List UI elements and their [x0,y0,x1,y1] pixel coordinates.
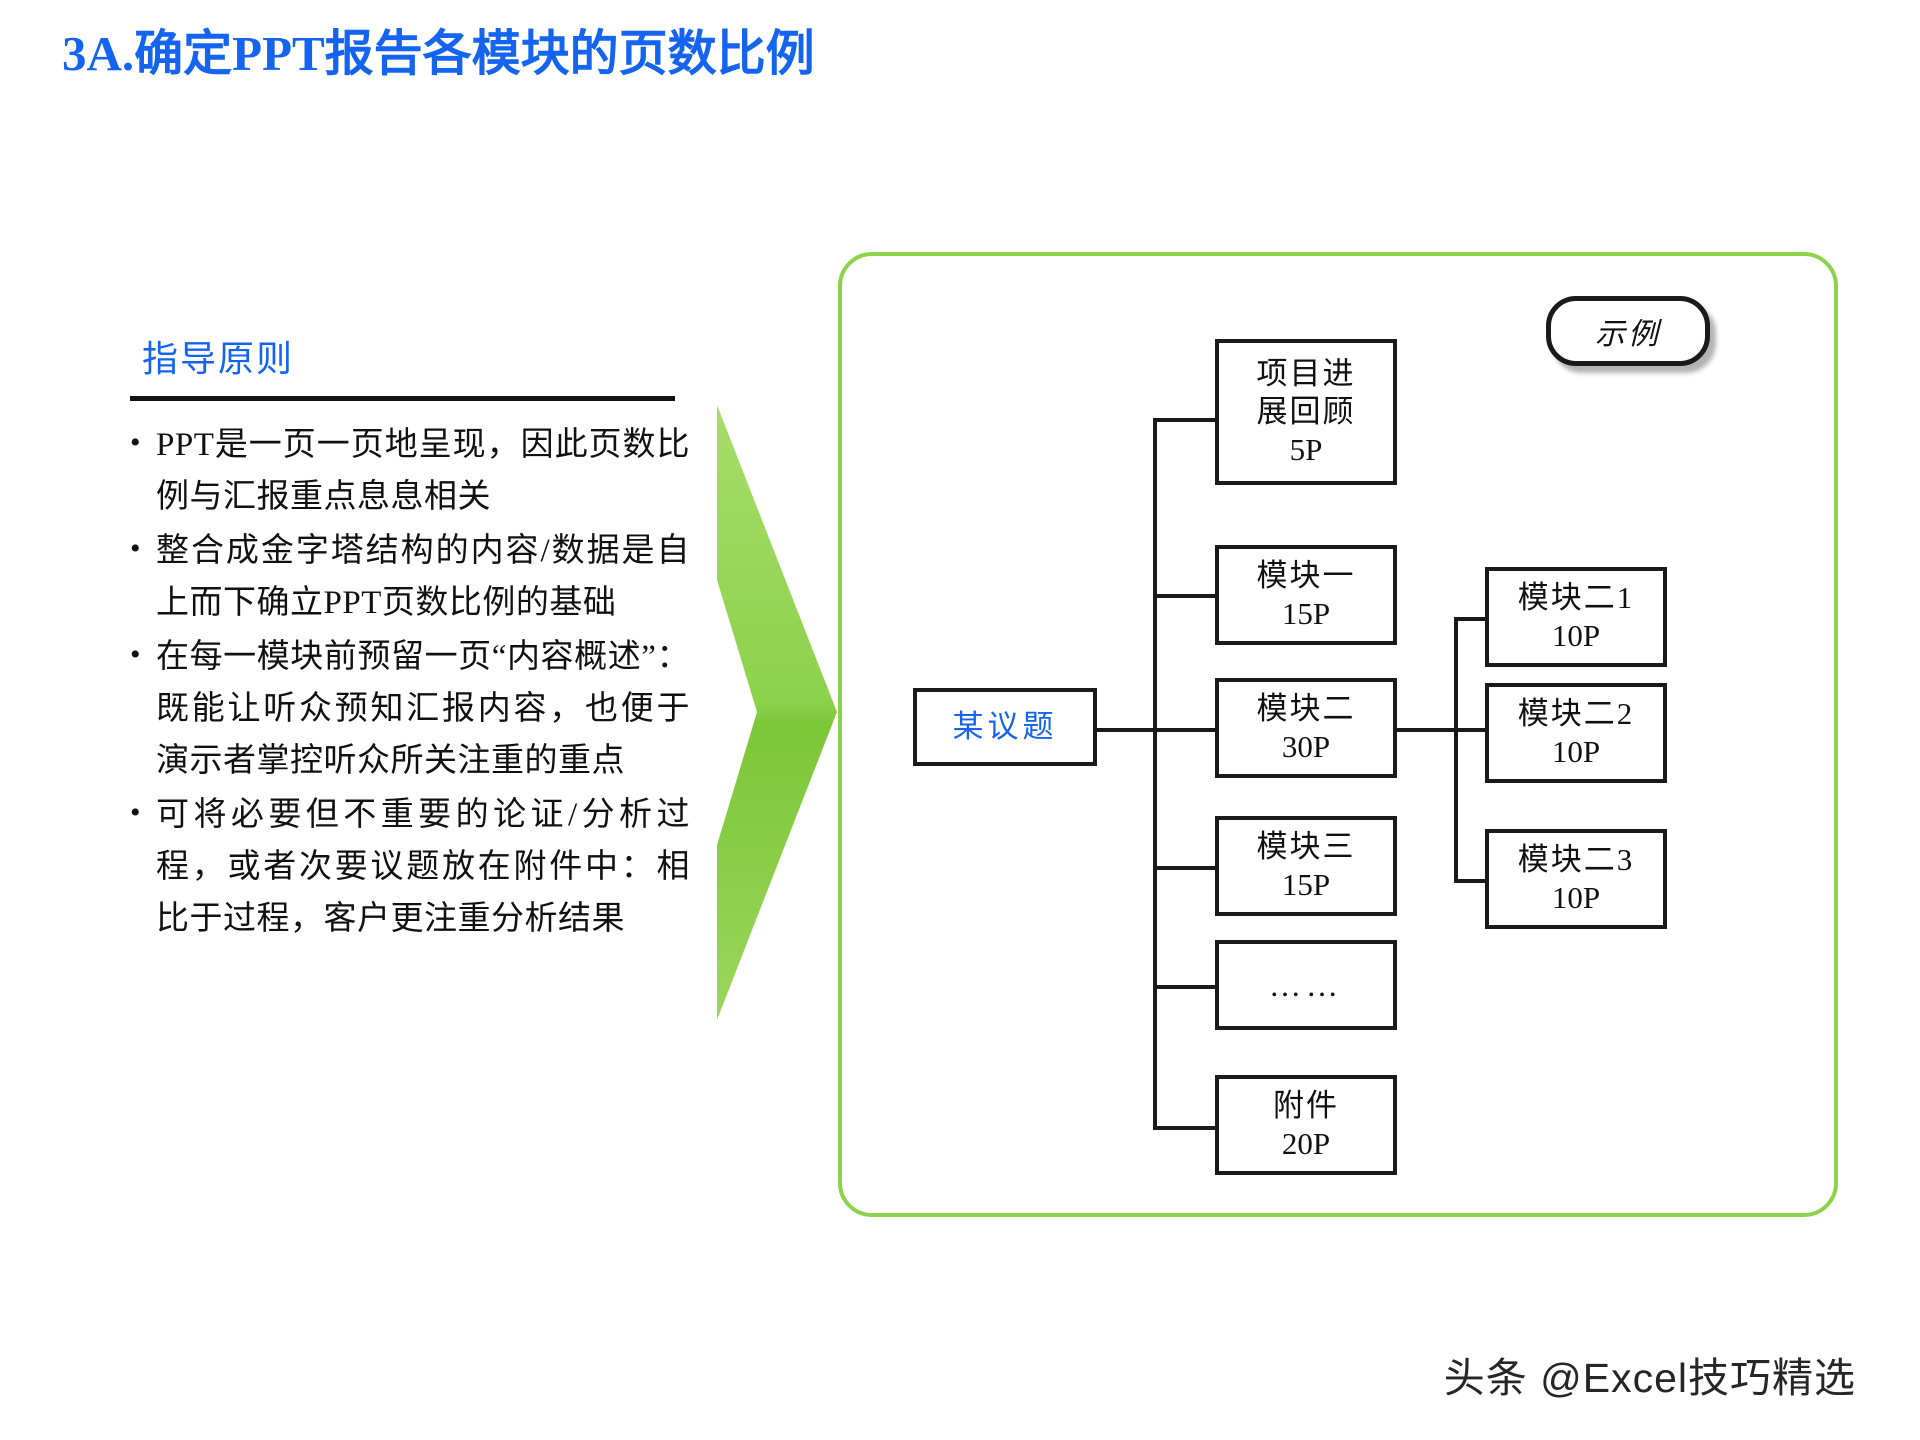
tree-node-label-line1: 附件 [1273,1087,1339,1125]
connector-root-out [1097,728,1157,732]
tree-node-branch-2[interactable]: 模块一 15P [1215,545,1397,645]
tree-node-label-line1b: 展回顾 [1257,393,1356,431]
list-item: 整合成金字塔结构的内容/数据是自上而下确立PPT页数比例的基础 [130,525,690,629]
list-item: PPT是一页一页地呈现，因此页数比例与汇报重点息息相关 [130,419,690,523]
connector-branch-5 [1153,985,1218,989]
tree-node-sub-1[interactable]: 模块二1 10P [1485,567,1667,667]
guidance-heading: 指导原则 [142,330,690,382]
connector-sub-1 [1454,617,1487,621]
tree-node-label-line1: 模块一 [1257,557,1356,595]
example-badge-label: 示例 [1595,309,1661,353]
tree-node-label-line1: 模块二2 [1518,695,1635,733]
tree-node-label-line1: 模块二1 [1518,579,1635,617]
green-arrow-icon [717,405,837,1020]
page-title: 3A.确定PPT报告各模块的页数比例 [62,14,815,85]
guidance-panel: 指导原则 PPT是一页一页地呈现，因此页数比例与汇报重点息息相关 整合成金字塔结… [130,330,690,947]
tree-node-label-line1: 模块二3 [1518,841,1635,879]
tree-node-sub-2[interactable]: 模块二2 10P [1485,683,1667,783]
connector-branch-3 [1153,728,1218,732]
tree-node-branch-3[interactable]: 模块二 30P [1215,678,1397,778]
tree-node-label-line2: 5P [1290,431,1323,469]
guidance-bullet-list: PPT是一页一页地呈现，因此页数比例与汇报重点息息相关 整合成金字塔结构的内容/… [130,419,690,945]
tree-node-label-line2: 30P [1282,728,1330,766]
tree-node-label-line2: 10P [1552,879,1600,917]
connector-branch-2 [1153,594,1218,598]
tree-node-branch-6[interactable]: 附件 20P [1215,1075,1397,1175]
tree-node-sub-3[interactable]: 模块二3 10P [1485,829,1667,929]
tree-node-label-line2: 15P [1282,866,1330,904]
tree-node-root-label: 某议题 [953,708,1058,746]
connector-sub-out [1396,728,1458,732]
list-item: 在每一模块前预留一页“内容概述”：既能让听众预知汇报内容，也便于演示者掌控听众所… [130,631,690,787]
tree-node-branch-4[interactable]: 模块三 15P [1215,816,1397,916]
tree-node-label-line2: 20P [1282,1125,1330,1163]
tree-node-branch-5[interactable]: …… [1215,940,1397,1030]
tree-node-label-line1: 模块三 [1257,828,1356,866]
tree-node-label-line2: 15P [1282,595,1330,633]
tree-node-label-line1: 项目进 [1257,355,1356,393]
connector-branch-6 [1153,1126,1218,1130]
tree-node-label-line1: 模块二 [1257,690,1356,728]
connector-branch-1 [1153,418,1218,422]
connector-sub-3 [1454,879,1487,883]
connector-trunk [1153,420,1157,1130]
connector-branch-4 [1153,866,1218,870]
connector-sub-trunk [1454,619,1458,883]
guidance-divider [130,396,675,401]
tree-node-branch-1[interactable]: 项目进 展回顾 5P [1215,339,1397,485]
watermark-text: 头条 @Excel技巧精选 [1444,1344,1856,1404]
tree-node-root[interactable]: 某议题 [913,688,1097,766]
tree-node-label-ellipsis: …… [1269,967,1343,1004]
tree-node-label-line2: 10P [1552,733,1600,771]
tree-node-label-line2: 10P [1552,617,1600,655]
list-item: 可将必要但不重要的论证/分析过程，或者次要议题放在附件中：相比于过程，客户更注重… [130,789,690,945]
connector-sub-2 [1454,728,1487,732]
example-badge: 示例 [1546,296,1710,366]
